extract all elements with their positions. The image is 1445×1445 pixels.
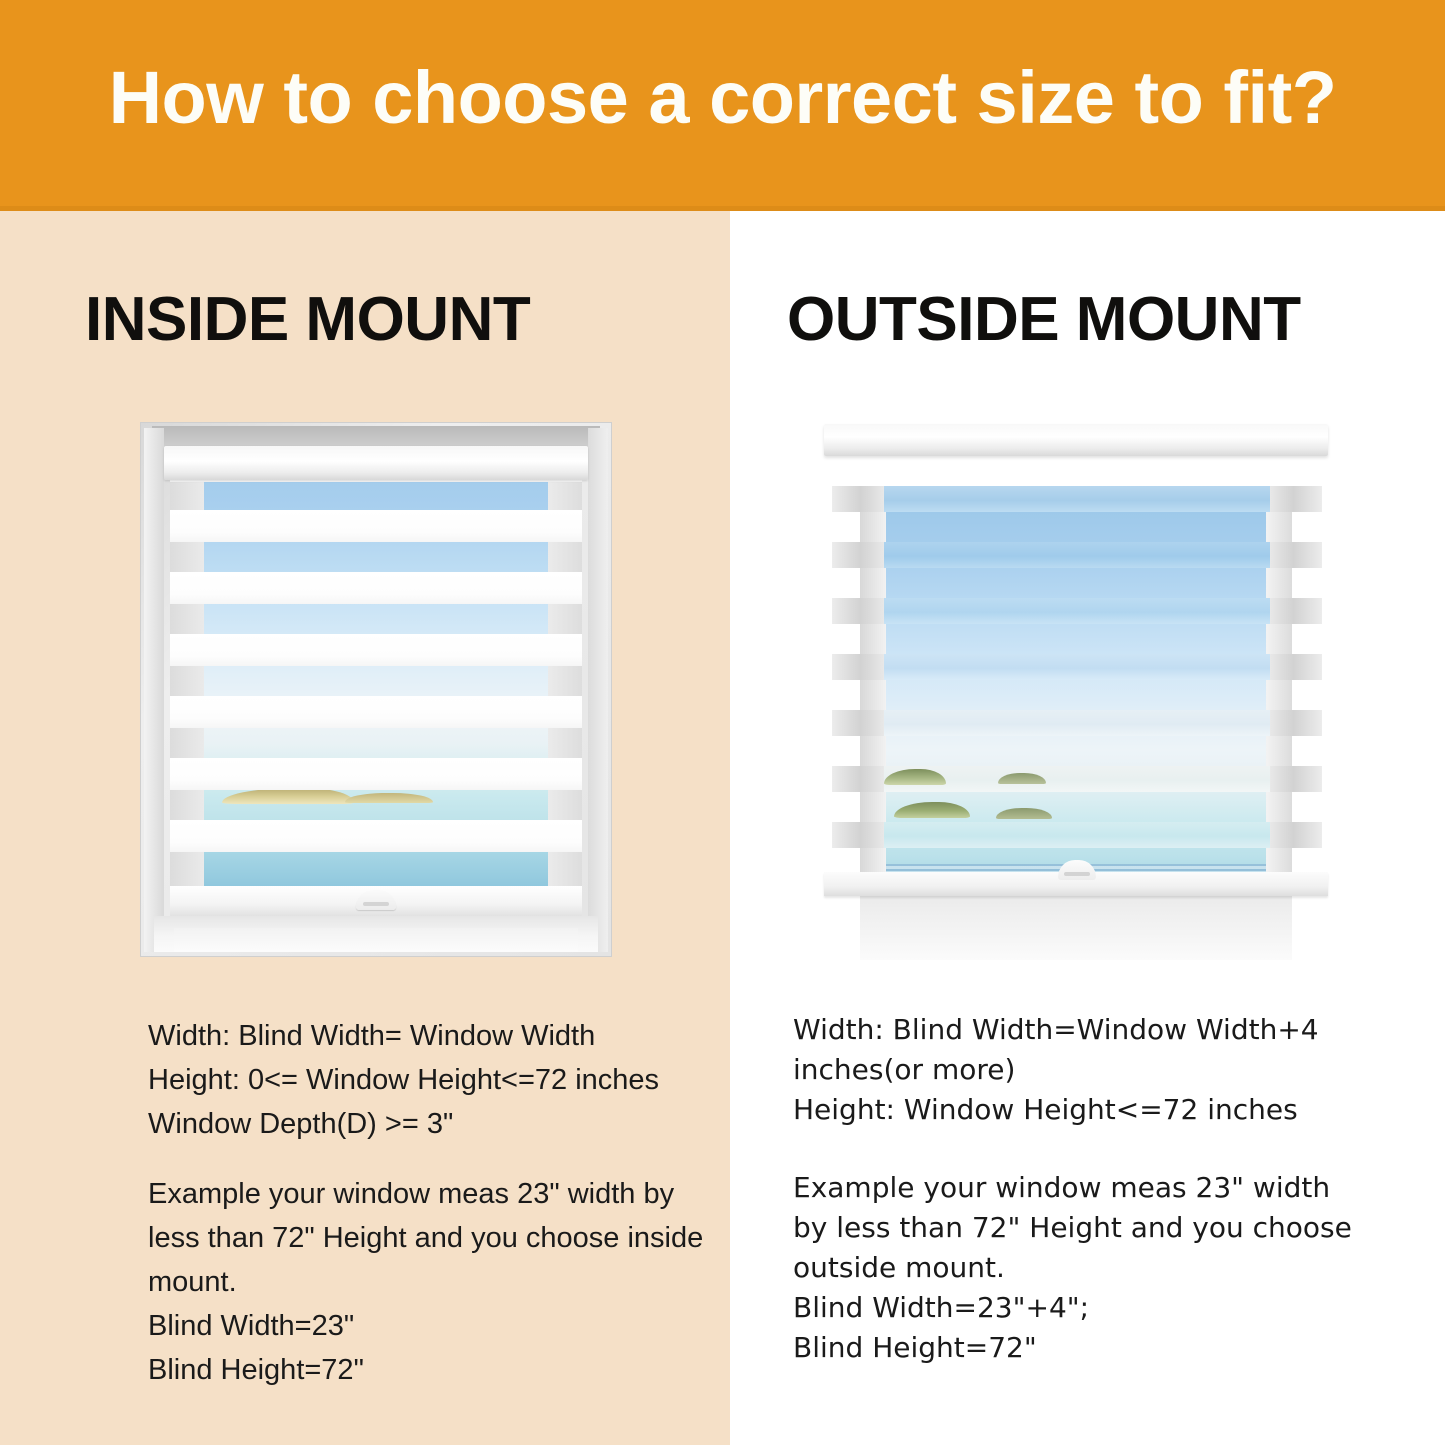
blind-slat bbox=[832, 654, 1322, 680]
blind-sheer-edge-left bbox=[170, 852, 204, 886]
infographic-page: How to choose a correct size to fit? INS… bbox=[0, 0, 1445, 1445]
blind-slat bbox=[832, 822, 1322, 848]
blind-band bbox=[170, 510, 582, 542]
blind-slat-sheer bbox=[884, 710, 1270, 736]
blind-sheer-edge-left bbox=[170, 482, 204, 510]
blind-slat bbox=[832, 766, 1322, 792]
blind-slat-cap-right bbox=[1270, 766, 1322, 792]
blind-slat-sheer bbox=[884, 486, 1270, 512]
blind-sheer-edge-right bbox=[548, 790, 582, 820]
blind-slat bbox=[832, 542, 1322, 568]
page-title: How to choose a correct size to fit? bbox=[0, 52, 1445, 144]
blind-band bbox=[170, 758, 582, 790]
blind-slat-cap-left bbox=[832, 710, 884, 736]
blind-band bbox=[170, 572, 582, 604]
blind-sheer-edge-right bbox=[548, 482, 582, 510]
blind-slat bbox=[832, 486, 1322, 512]
outside-mount-example-text: Example your window meas 23" width by le… bbox=[793, 1168, 1353, 1368]
blind-slat-cap-right bbox=[1270, 822, 1322, 848]
blind-sheer-edge-right bbox=[548, 542, 582, 572]
inside-mount-heading: INSIDE MOUNT bbox=[85, 285, 530, 355]
blind-slat-cap-right bbox=[1270, 542, 1322, 568]
blind-band bbox=[170, 634, 582, 666]
window-frame-left-bevel bbox=[144, 428, 164, 952]
inside-mount-spec-text: Width: Blind Width= Window Width Height:… bbox=[148, 1014, 708, 1146]
blind-slat bbox=[832, 710, 1322, 736]
blind-sheer-edge-right bbox=[548, 728, 582, 758]
blind-slat-cap-left bbox=[832, 542, 884, 568]
blind-slat-cap-left bbox=[832, 486, 884, 512]
blind-headrail bbox=[824, 424, 1328, 456]
blind-slat-sheer bbox=[884, 822, 1270, 848]
blind-sheer-edge-right bbox=[548, 604, 582, 634]
blind-slat bbox=[832, 598, 1322, 624]
blind-slat-sheer bbox=[884, 598, 1270, 624]
blind-band bbox=[170, 696, 582, 728]
outside-mount-heading: OUTSIDE MOUNT bbox=[787, 285, 1301, 355]
blind-slat-cap-left bbox=[832, 822, 884, 848]
blind-slat-sheer bbox=[884, 654, 1270, 680]
blind-slat-cap-right bbox=[1270, 486, 1322, 512]
blind-sheer-edge-left bbox=[170, 604, 204, 634]
blind-slat-cap-right bbox=[1270, 598, 1322, 624]
blind-slat-cap-right bbox=[1270, 710, 1322, 736]
island-shape-right bbox=[345, 793, 433, 803]
outside-mount-spec-text: Width: Blind Width=Window Width+4 inches… bbox=[793, 1010, 1353, 1130]
island-shape-left bbox=[894, 802, 970, 818]
outside-mount-window-diagram bbox=[820, 420, 1332, 960]
window-frame-right-bevel bbox=[588, 428, 608, 952]
blind-sheer-edge-left bbox=[170, 728, 204, 758]
window-glass-well bbox=[170, 448, 582, 916]
blind-slat-sheer bbox=[884, 542, 1270, 568]
window-sill-face bbox=[174, 928, 578, 952]
blind-slat-cap-left bbox=[832, 598, 884, 624]
island-shape-right bbox=[998, 773, 1046, 784]
blind-slat-cap-left bbox=[832, 654, 884, 680]
island-shape-right bbox=[996, 808, 1052, 819]
blind-slat-cap-right bbox=[1270, 654, 1322, 680]
inside-mount-example-text: Example your window meas 23" width by le… bbox=[148, 1172, 708, 1392]
blind-sheer-edge-left bbox=[170, 666, 204, 696]
blind-headrail bbox=[164, 446, 588, 480]
blind-sheer-edge-right bbox=[548, 852, 582, 886]
window-recess-bottom bbox=[860, 890, 1292, 960]
blind-band bbox=[170, 820, 582, 852]
blind-sheer-edge-right bbox=[548, 666, 582, 696]
blind-sheer-edge-left bbox=[170, 790, 204, 820]
blind-slat-cap-left bbox=[832, 766, 884, 792]
blind-sheer-edge-left bbox=[170, 542, 204, 572]
window-frame-top-bevel bbox=[152, 426, 600, 448]
inside-mount-window-diagram bbox=[140, 422, 612, 957]
